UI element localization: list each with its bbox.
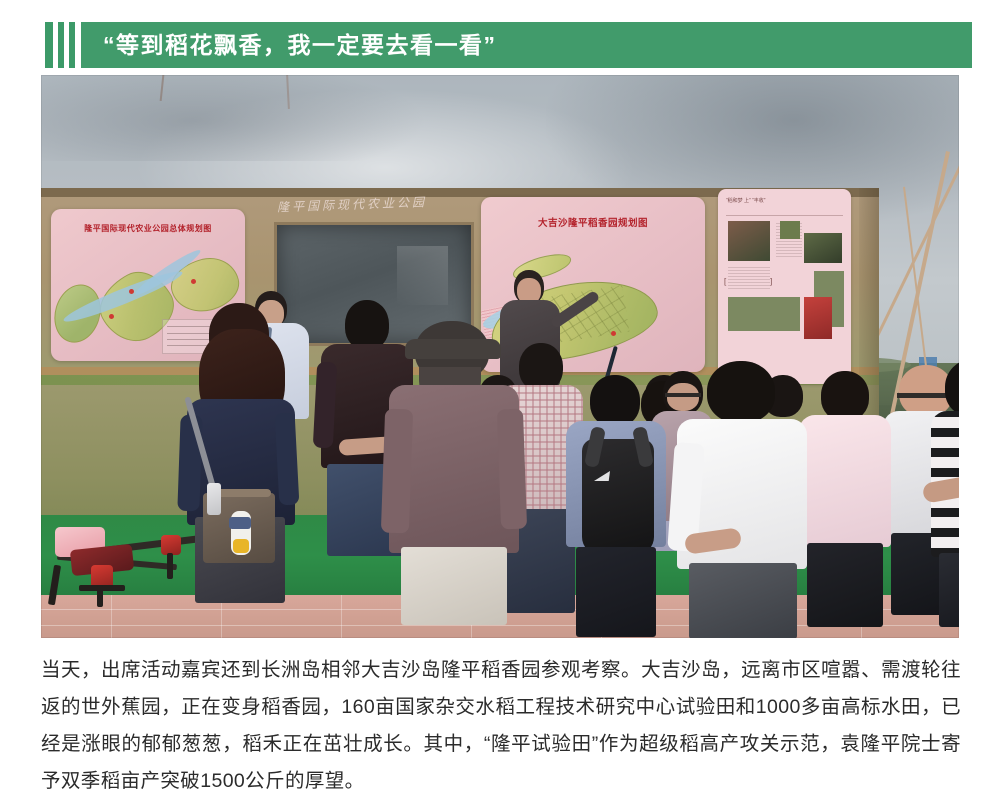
person-cap-man xyxy=(389,313,519,625)
poster-photo-3 xyxy=(780,221,800,239)
poster-photo-2 xyxy=(804,233,842,263)
article-photo: 隆平国际现代农业公园 隆平国际现代农业公园总体规划图 xyxy=(41,75,959,638)
poster-bracket-right: ] xyxy=(770,277,772,286)
photo-poster-board: “稻和梦 上” “丰收” [ ] xyxy=(718,189,851,384)
person-white-shirt xyxy=(677,361,807,638)
person-backpack xyxy=(564,375,668,637)
left-planning-board-title: 隆平国际现代农业公园总体规划图 xyxy=(51,223,245,234)
article-body: 当天，出席活动嘉宾还到长洲岛相邻大吉沙岛隆平稻香园参观考察。大吉沙岛，远离市区喧… xyxy=(41,652,961,800)
heading-accent-bar-3 xyxy=(69,22,75,68)
sky-cloud-left xyxy=(41,75,427,161)
poster-heading: “稻和梦 上” “丰收” xyxy=(726,197,843,211)
section-heading: “等到稻花飘香，我一定要去看一看” xyxy=(45,22,972,68)
person-striped-polo xyxy=(931,359,959,627)
poster-bracket-left: [ xyxy=(724,277,726,286)
poster-red-panel xyxy=(804,297,832,339)
heading-banner: “等到稻花飘香，我一定要去看一看” xyxy=(81,22,972,68)
poster-divider xyxy=(726,215,843,216)
heading-accent-bar-2 xyxy=(58,22,64,68)
poster-photo-1 xyxy=(728,221,770,261)
heading-accent-bar-1 xyxy=(45,22,53,68)
poster-text-block-2 xyxy=(728,267,770,289)
map-marker-2 xyxy=(191,279,196,284)
poster-green-panel-1 xyxy=(728,297,800,331)
page-title: “等到稻花飘香，我一定要去看一看” xyxy=(103,34,497,57)
map-marker-b xyxy=(611,331,616,336)
person-pink-shirt xyxy=(799,371,891,627)
article-page: “等到稻花飘香，我一定要去看一看” 隆平国际现代农 xyxy=(0,0,1000,808)
article-paragraph: 当天，出席活动嘉宾还到长洲岛相邻大吉沙岛隆平稻香园参观考察。大吉沙岛，远离市区喧… xyxy=(41,652,961,800)
map-marker-1 xyxy=(129,289,134,294)
person-woman-handbag xyxy=(181,303,301,603)
